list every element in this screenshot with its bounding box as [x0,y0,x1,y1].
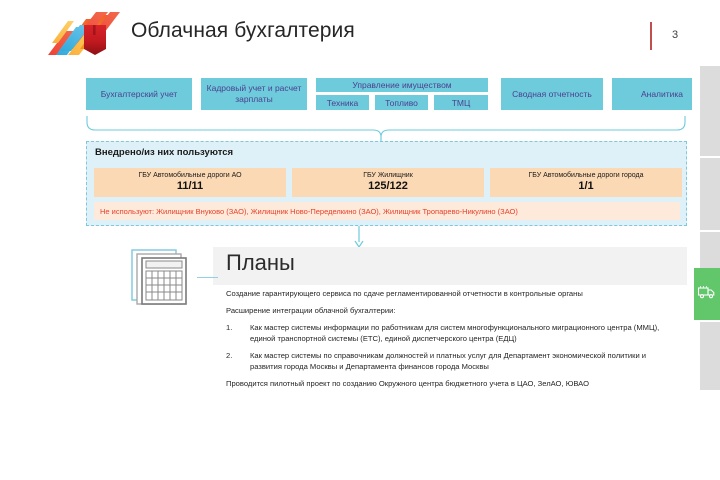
nav-item-label: Кадровый учет и расчет зарплаты [203,83,305,104]
stat-card-label: ГБУ Жилищник [363,172,413,180]
flow-down-arrow-icon [352,226,366,248]
nav-subitem-label: ТМЦ [452,98,471,108]
nav-subitem-toplivo[interactable]: Топливо [375,95,428,110]
plans-line: Расширение интеграции облачной бухгалтер… [226,305,676,316]
nav-item-label: Сводная отчетность [512,89,592,100]
list-item-text: Как мастер системы информации по работни… [250,322,676,344]
stat-card-value: 1/1 [578,180,593,193]
calendar-table-icon [131,249,197,307]
scrollbar-segment[interactable] [700,158,720,230]
plans-numbered-list: 1. Как мастер системы информации по рабо… [226,322,676,372]
stat-card-value: 11/11 [177,180,203,193]
nav-subitem-tehnika[interactable]: Техника [316,95,369,110]
stat-card: ГБУ Жилищник 125/122 [292,168,484,197]
slide-canvas: Облачная бухгалтерия 3 Бухгалтерский уче… [0,0,692,480]
module-nav-row: Бухгалтерский учет Кадровый учет и расче… [86,76,686,118]
list-item-number: 1. [226,322,250,344]
nav-item-svodnaya[interactable]: Сводная отчетность [501,78,603,110]
list-item: 1. Как мастер системы информации по рабо… [226,322,676,344]
plans-tail-text: Проводится пилотный проект по созданию О… [226,378,676,389]
nav-to-panel-brace [86,116,686,142]
nav-subitem-tmc[interactable]: ТМЦ [434,95,488,110]
stat-card-label: ГБУ Автомобильные дороги АО [138,172,241,180]
scrollbar-segment[interactable] [700,322,720,390]
stat-card: ГБУ Автомобильные дороги АО 11/11 [94,168,286,197]
slide-number-rule [650,22,652,50]
truck-tab-button[interactable] [694,268,720,320]
unused-organizations-bar: Не используют: Жилищник Внуково (ЗАО), Ж… [94,202,680,220]
stat-card-label: ГБУ Автомобильные дороги города [528,172,643,180]
stat-card: ГБУ Автомобильные дороги города 1/1 [490,168,682,197]
nav-item-analitika[interactable]: Аналитика [612,78,692,110]
list-item-number: 2. [226,350,250,372]
scrollbar-segment[interactable] [700,66,720,156]
slide-header: Облачная бухгалтерия 3 [0,0,692,66]
nav-subitem-label: Техника [327,98,359,108]
plans-line: Создание гарантирующего сервиса по сдаче… [226,288,676,299]
unused-organizations-text: Не используют: Жилищник Внуково (ЗАО), Ж… [100,207,518,216]
moscow-government-logo [46,9,124,61]
nav-item-imushchestvo[interactable]: Управление имуществом [316,78,488,92]
implemented-panel: Внедрено/из них пользуются ГБУ Автомобил… [86,141,687,226]
slide-number: 3 [672,29,678,41]
list-item: 2. Как мастер системы по справочникам до… [226,350,676,372]
stat-card-value: 125/122 [368,180,408,193]
nav-item-kadry[interactable]: Кадровый учет и расчет зарплаты [201,78,307,110]
plans-heading: Планы [226,250,295,276]
nav-item-label: Бухгалтерский учет [101,89,178,100]
list-item-text: Как мастер системы по справочникам должн… [250,350,676,372]
plans-connector-rule [197,277,218,278]
nav-item-label: Управление имуществом [352,80,451,91]
right-scrollbar-rail[interactable] [700,0,720,480]
implemented-title: Внедрено/из них пользуются [95,147,233,158]
plans-body: Создание гарантирующего сервиса по сдаче… [226,288,676,389]
nav-subitem-label: Топливо [385,98,418,108]
nav-item-label: Аналитика [641,89,683,100]
nav-item-buhuchet[interactable]: Бухгалтерский учет [86,78,192,110]
page-title: Облачная бухгалтерия [131,19,355,43]
truck-icon [698,285,716,304]
